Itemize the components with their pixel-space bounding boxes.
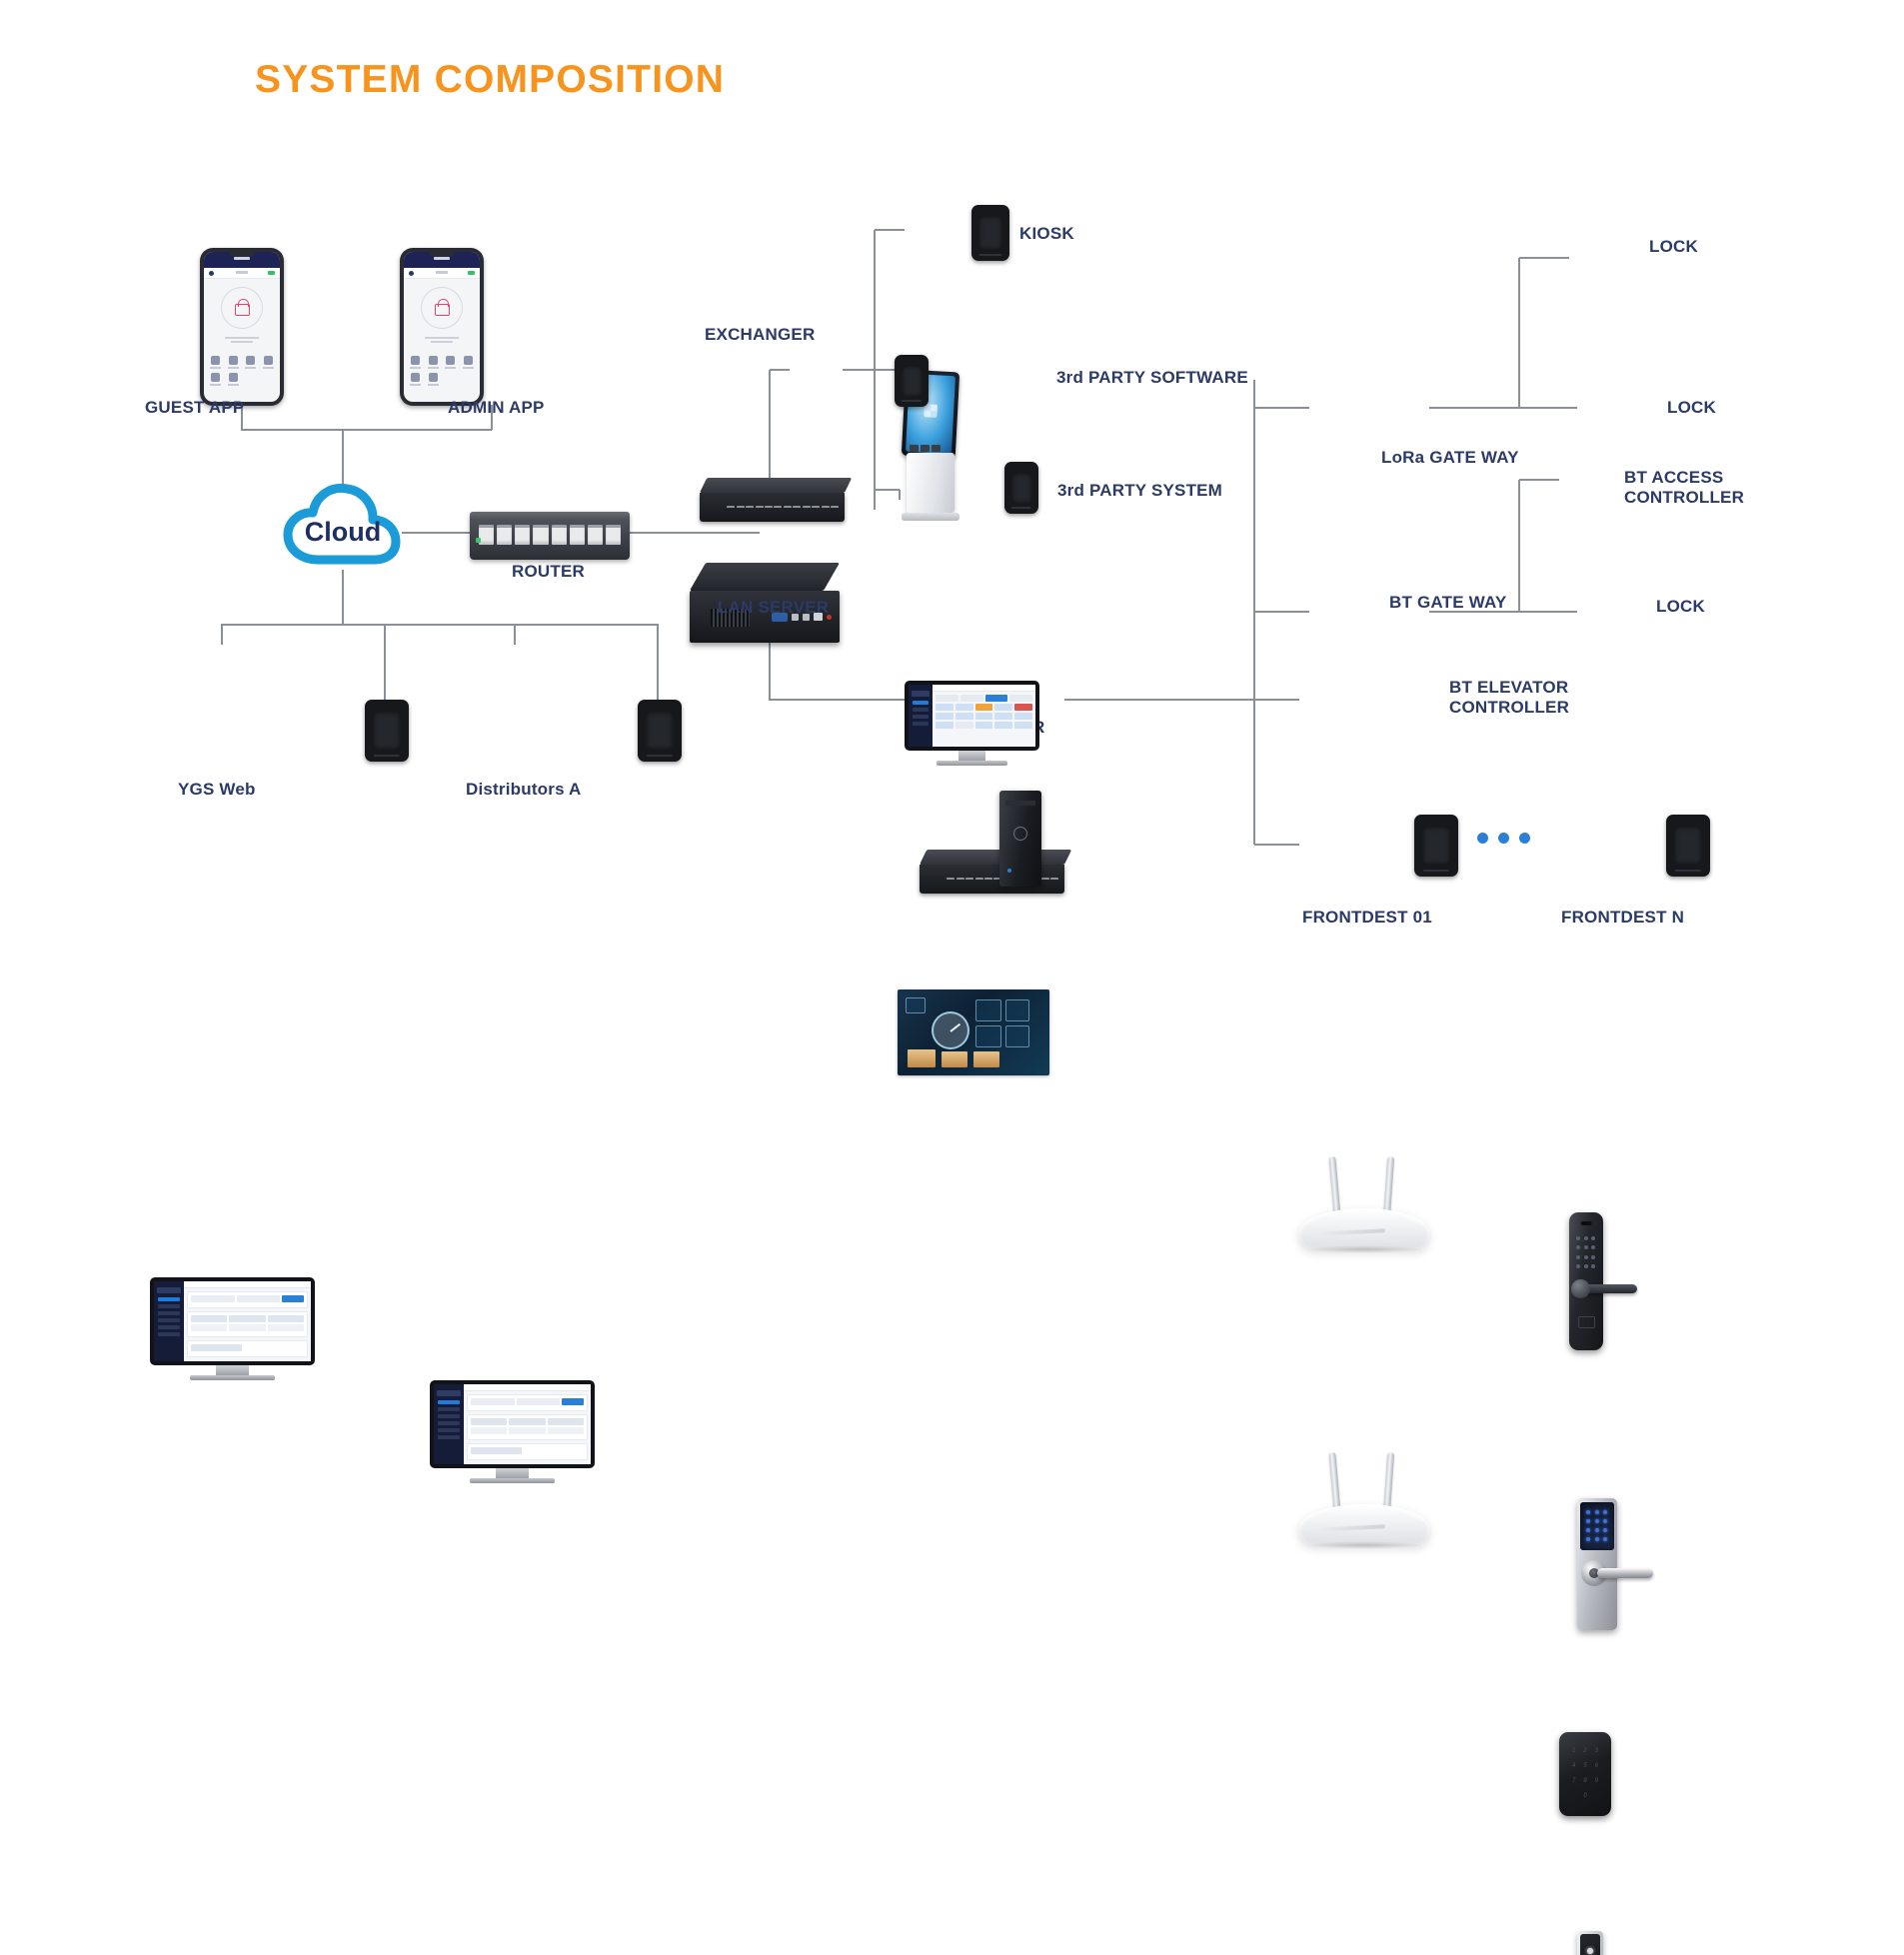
bt-gateway-device[interactable] [1299, 1452, 1429, 1544]
router-device[interactable] [470, 512, 630, 560]
exchanger-bottom-device[interactable] [920, 850, 1064, 894]
smartphone-admin[interactable] [400, 248, 484, 406]
smart-lock-dark[interactable] [1569, 1212, 1603, 1350]
bt-access-controller-label: BT ACCESS CONTROLLER [1624, 468, 1744, 508]
router-label: ROUTER [512, 562, 585, 582]
card-reader-distributors-a[interactable] [638, 700, 682, 762]
frontdest-n-label: FRONTDEST N [1561, 908, 1684, 928]
card-reader-third-party-software[interactable] [895, 355, 929, 407]
card-reader-ygs-web[interactable] [365, 700, 409, 762]
admin-app-label: ADMIN APP [448, 398, 545, 418]
bt-elevator-controller-label: BT ELEVATOR CONTROLLER [1449, 678, 1569, 718]
ygs-web-label: YGS Web [178, 780, 256, 800]
bt-access-controller-device[interactable]: 1234567890 [1559, 1732, 1611, 1816]
smartphone-guest[interactable] [200, 248, 284, 406]
admin-app-device[interactable] [400, 248, 484, 406]
guest-app-label: GUEST APP [145, 398, 244, 418]
diagram-canvas: SYSTEM COMPOSITION GUEST APP [0, 0, 1904, 977]
distributors-a-monitor[interactable] [430, 1380, 595, 1483]
ellipsis-separator [1477, 833, 1530, 844]
ygs-web-monitor[interactable] [150, 1277, 315, 1380]
lora-gateway-device[interactable] [1299, 1156, 1429, 1248]
padlock-icon[interactable] [421, 287, 463, 329]
distributors-a-label: Distributors A [466, 780, 582, 800]
kiosk-label: KIOSK [1019, 224, 1074, 244]
third-party-software-monitor[interactable] [905, 681, 1039, 766]
cloud-label: Cloud [305, 517, 381, 548]
card-reader-kiosk[interactable] [971, 205, 1009, 261]
card-reader-third-party-system[interactable] [1004, 462, 1038, 514]
card-reader-frontdest-01[interactable] [1414, 815, 1458, 877]
smart-lock-slim[interactable] [1577, 1931, 1603, 1955]
exchanger-top-label: EXCHANGER [705, 325, 815, 345]
cloud-node[interactable]: Cloud [283, 480, 403, 575]
lock-2-label: LOCK [1667, 398, 1716, 418]
lan-server-label: LAN SERVER [718, 598, 829, 618]
padlock-icon[interactable] [221, 287, 263, 329]
card-reader-frontdest-n[interactable] [1666, 815, 1710, 877]
pc-tower [999, 791, 1041, 887]
bt-gateway-label: BT GATE WAY [1389, 593, 1506, 613]
smart-lock-silver[interactable] [1577, 1498, 1617, 1630]
frontdest-01-label: FRONTDEST 01 [1302, 908, 1432, 928]
third-party-software-label: 3rd PARTY SOFTWARE [1056, 368, 1248, 388]
lock-1-label: LOCK [1649, 237, 1698, 257]
lock-3-label: LOCK [1656, 597, 1705, 617]
guest-app-device[interactable] [200, 248, 284, 406]
exchanger-top-device[interactable] [700, 478, 845, 522]
third-party-system-illustration [898, 989, 1049, 1075]
lora-gateway-label: LoRa GATE WAY [1381, 448, 1519, 468]
third-party-system-label: 3rd PARTY SYSTEM [1057, 481, 1222, 501]
page-title: SYSTEM COMPOSITION [255, 58, 725, 102]
